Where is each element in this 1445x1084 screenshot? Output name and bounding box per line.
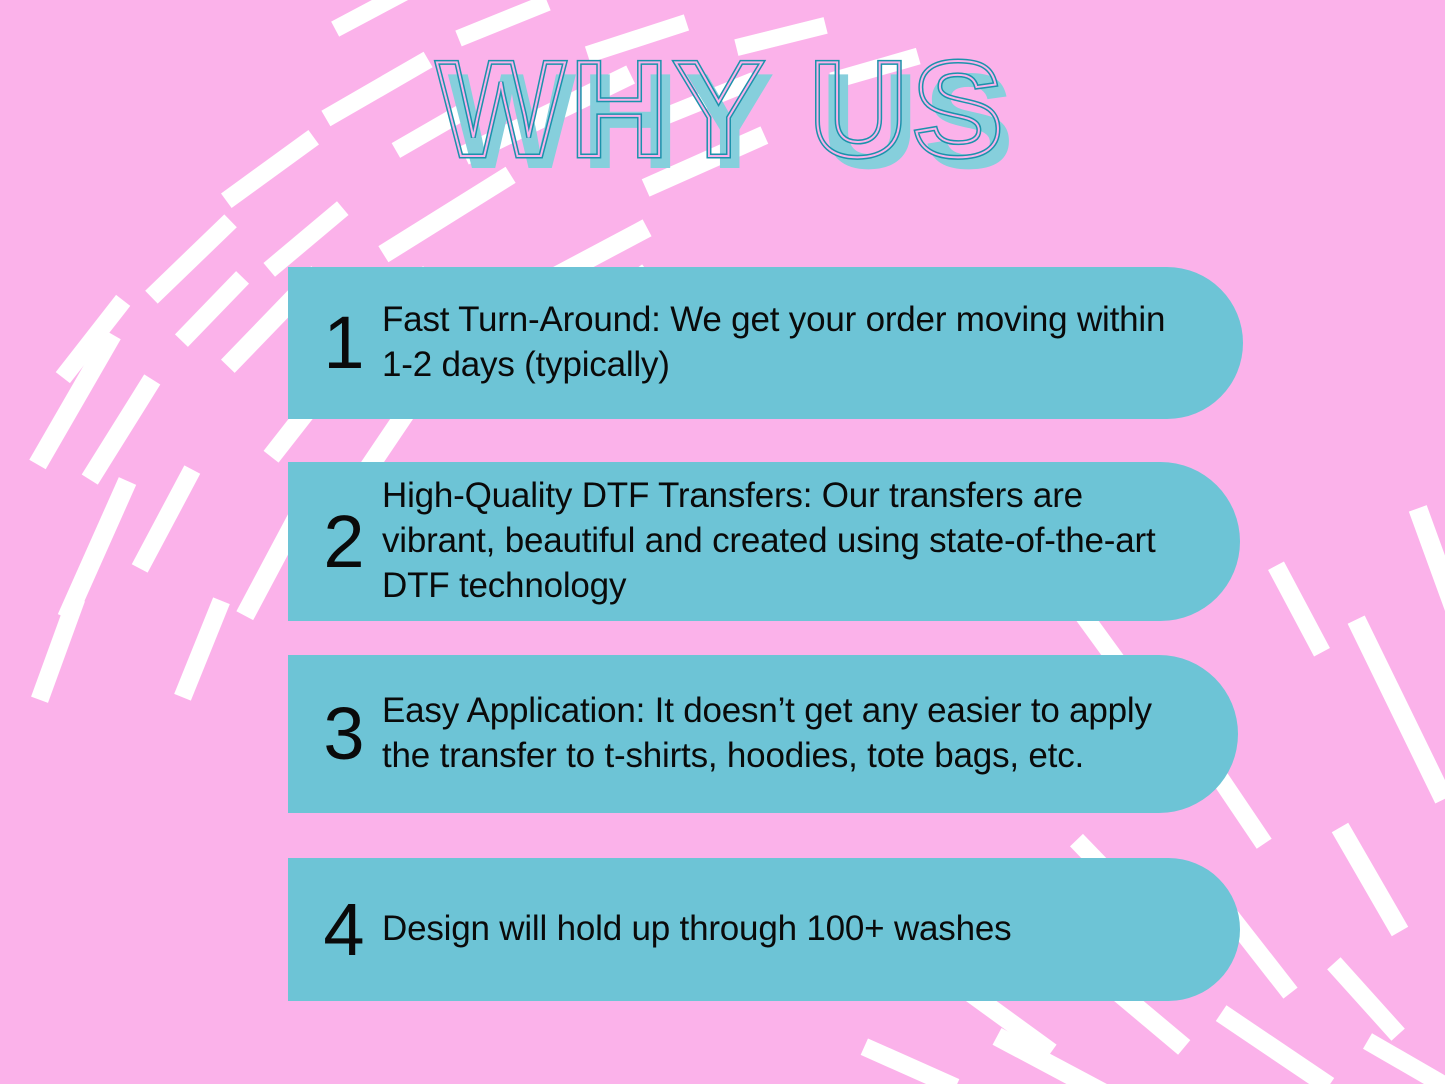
benefit-text: Design will hold up through 100+ washes [382, 907, 1240, 952]
decorative-dash [31, 595, 85, 703]
decorative-dash [1409, 505, 1445, 634]
decorative-dash [29, 330, 120, 469]
decorative-dash [1216, 1005, 1334, 1084]
benefit-number: 4 [306, 893, 382, 967]
decorative-dash [58, 477, 136, 622]
benefit-card: 1 Fast Turn-Around: We get your order mo… [288, 267, 1243, 419]
decorative-dash [175, 271, 249, 347]
decorative-dash [174, 597, 230, 700]
benefit-text: High-Quality DTF Transfers: Our transfer… [382, 474, 1240, 608]
benefit-number: 3 [306, 697, 382, 771]
page-title: WHY US WHY US WHY US [0, 34, 1445, 194]
decorative-dash [331, 0, 417, 37]
benefit-card: 4 Design will hold up through 100+ washe… [288, 858, 1240, 1001]
benefit-card: 3 Easy Application: It doesn’t get any e… [288, 655, 1238, 813]
decorative-dash [132, 465, 200, 572]
poster-canvas: WHY US WHY US WHY US 1 Fast Turn-Around:… [0, 0, 1445, 1084]
benefit-text: Fast Turn-Around: We get your order movi… [382, 298, 1243, 388]
decorative-dash [861, 1038, 960, 1084]
decorative-dash [263, 201, 348, 276]
benefit-number: 2 [306, 505, 382, 579]
decorative-dash [993, 1028, 1108, 1084]
decorative-dash [1363, 1033, 1445, 1084]
decorative-dash [145, 214, 237, 303]
benefit-number: 1 [306, 306, 382, 380]
benefit-text: Easy Application: It doesn’t get any eas… [382, 689, 1238, 779]
decorative-dash [56, 295, 131, 383]
page-title-inner: WHY US [0, 34, 1445, 184]
decorative-dash [82, 374, 161, 484]
benefit-card: 2 High-Quality DTF Transfers: Our transf… [288, 462, 1240, 621]
decorative-dash [1268, 562, 1330, 657]
decorative-dash [1332, 823, 1408, 936]
decorative-dash [1327, 957, 1405, 1040]
decorative-dash [1348, 615, 1445, 803]
